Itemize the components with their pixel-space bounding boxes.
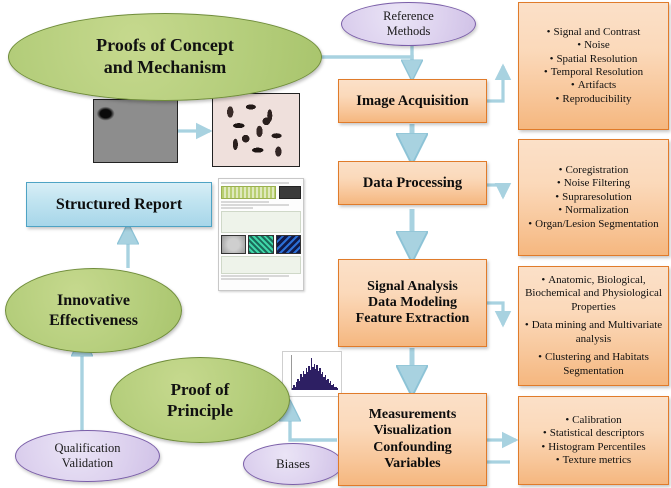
list-item: •Artifacts (524, 79, 663, 92)
bullet-icon: • (557, 177, 561, 190)
bullet-icon: • (541, 441, 545, 454)
diagram-canvas: Proofs of Concept and Mechanism Innovati… (0, 0, 671, 488)
step-measurements[interactable]: Measurements Visualization Confounding V… (338, 393, 487, 486)
panel-analysis-details[interactable]: •Anatomic, Biological, Biochemical and P… (518, 266, 669, 386)
panel-acquisition-details[interactable]: •Signal and Contrast •Noise •Spatial Res… (518, 2, 669, 130)
list-item: •Calibration (524, 414, 663, 427)
node-innovative-effectiveness-label: Innovative Effectiveness (49, 291, 138, 331)
histogram-plot-image (282, 351, 342, 397)
bullet-icon: • (544, 66, 548, 79)
list-item: •Reproducibility (524, 93, 663, 106)
bullet-icon: • (543, 427, 547, 440)
list-item: •Clustering and Habitats Segmentation (524, 351, 663, 378)
step-data-processing[interactable]: Data Processing (338, 161, 487, 205)
bullet-icon: • (550, 53, 554, 66)
bullet-icon: • (547, 26, 551, 39)
step-image-acquisition-label: Image Acquisition (356, 93, 468, 110)
node-biases-label: Biases (276, 456, 310, 472)
node-biases[interactable]: Biases (243, 443, 343, 485)
list-item: •Texture metrics (524, 454, 663, 467)
list-item: •Spatial Resolution (524, 53, 663, 66)
list-item: •Anatomic, Biological, Biochemical and P… (524, 274, 663, 314)
3d-reconstruction-image (212, 93, 300, 167)
list-item: •Histogram Percentiles (524, 441, 663, 454)
bullet-icon: • (556, 454, 560, 467)
list-item: •Noise Filtering (524, 177, 663, 190)
bullet-icon: • (571, 79, 575, 92)
step-measurements-label: Measurements Visualization Confounding V… (369, 407, 457, 472)
panel-measurement-details[interactable]: •Calibration •Statistical descriptors •H… (518, 396, 669, 485)
step-signal-analysis[interactable]: Signal Analysis Data Modeling Feature Ex… (338, 259, 487, 347)
panel-processing-details[interactable]: •Coregistration •Noise Filtering •Suprar… (518, 139, 669, 256)
node-reference-methods[interactable]: Reference Methods (341, 2, 476, 46)
bullet-icon: • (541, 274, 545, 287)
sem-micrograph-image (93, 99, 178, 163)
node-qualification-validation-label: Qualification Validation (55, 441, 121, 471)
list-item: •Coregistration (524, 164, 663, 177)
list-item: •Signal and Contrast (524, 26, 663, 39)
list-item: •Data mining and Multivariate analysis (524, 319, 663, 346)
step-image-acquisition[interactable]: Image Acquisition (338, 79, 487, 123)
bullet-icon: • (555, 191, 559, 204)
bullet-icon: • (559, 164, 563, 177)
node-innovative-effectiveness[interactable]: Innovative Effectiveness (5, 268, 182, 353)
node-proof-of-principle[interactable]: Proof of Principle (110, 357, 290, 443)
node-reference-methods-label: Reference Methods (383, 9, 434, 39)
list-item: •Normalization (524, 204, 663, 217)
step-signal-analysis-label: Signal Analysis Data Modeling Feature Ex… (356, 279, 470, 328)
bullet-icon: • (525, 319, 529, 332)
bullet-icon: • (565, 414, 569, 427)
bullet-icon: • (558, 204, 562, 217)
step-data-processing-label: Data Processing (363, 175, 462, 192)
structured-report-page-image (218, 178, 304, 291)
list-item: •Statistical descriptors (524, 427, 663, 440)
bullet-icon: • (577, 39, 581, 52)
bullet-icon: • (528, 218, 532, 231)
node-structured-report[interactable]: Structured Report (26, 182, 212, 227)
bullet-icon: • (538, 351, 542, 364)
node-proofs-of-concept[interactable]: Proofs of Concept and Mechanism (8, 13, 322, 101)
list-item: •Noise (524, 39, 663, 52)
list-item: •Supraresolution (524, 191, 663, 204)
node-structured-report-label: Structured Report (56, 196, 182, 214)
node-proof-of-principle-label: Proof of Principle (167, 379, 233, 421)
node-proofs-of-concept-label: Proofs of Concept and Mechanism (96, 35, 234, 79)
bullet-icon: • (556, 93, 560, 106)
list-item: •Organ/Lesion Segmentation (524, 218, 663, 231)
node-qualification-validation[interactable]: Qualification Validation (15, 430, 160, 482)
list-item: •Temporal Resolution (524, 66, 663, 79)
